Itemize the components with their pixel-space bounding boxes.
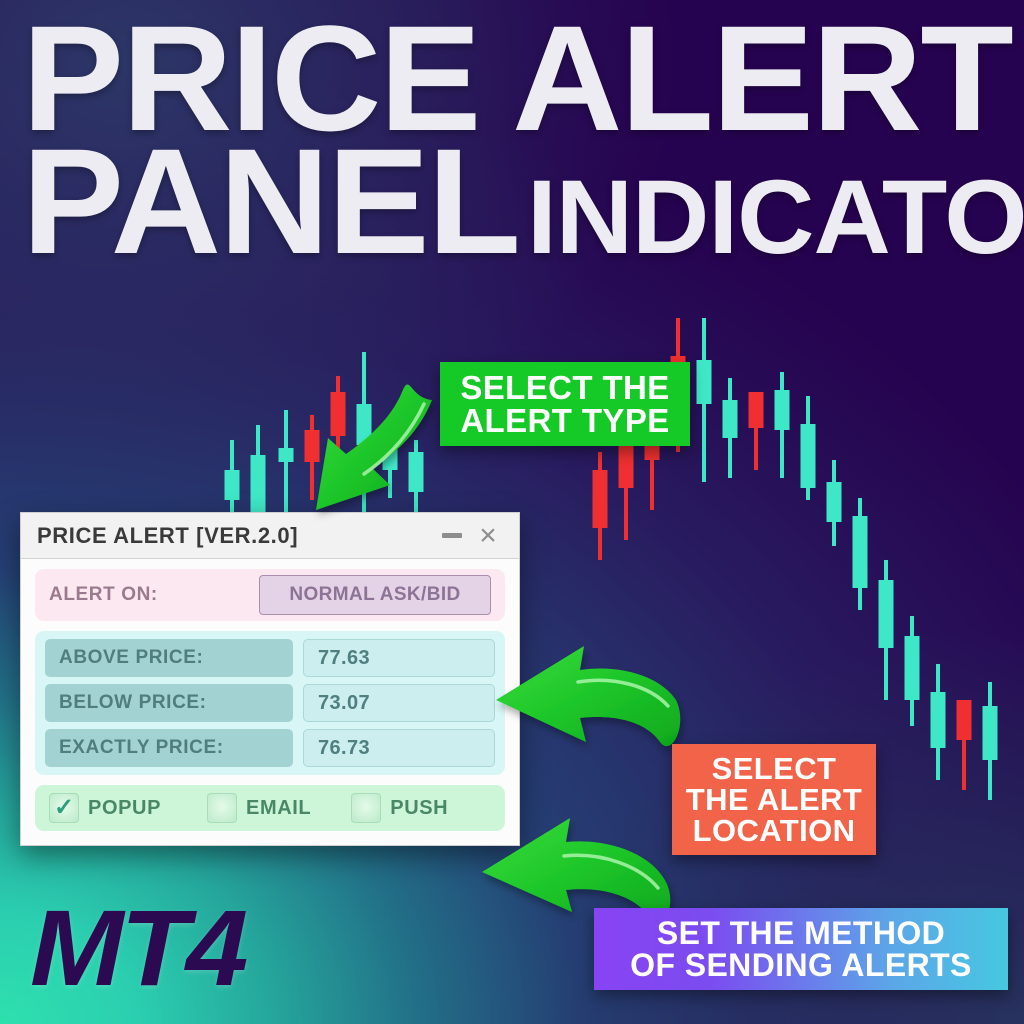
mt4-logo: MT4 xyxy=(30,885,245,1010)
callout-send-method-line1: SET THE METHOD xyxy=(606,917,996,949)
method-push[interactable]: PUSH xyxy=(351,793,448,823)
below-price-input[interactable]: 73.07 xyxy=(303,684,495,722)
callout-alert-location: SELECT THE ALERT LOCATION xyxy=(672,744,876,855)
headline-word-indicator: INDICATOR xyxy=(527,173,1024,263)
minimize-button[interactable] xyxy=(435,519,469,553)
push-checkbox[interactable] xyxy=(351,793,381,823)
panel-titlebar: PRICE ALERT [VER.2.0] × xyxy=(21,513,519,559)
close-button[interactable]: × xyxy=(469,519,507,553)
minimize-icon xyxy=(442,533,462,538)
panel-body: ALERT ON: NORMAL ASK/BID ABOVE PRICE: 77… xyxy=(21,559,519,845)
popup-checkbox[interactable]: ✓ xyxy=(49,793,79,823)
alert-type-dropdown[interactable]: NORMAL ASK/BID xyxy=(259,575,491,615)
email-label: EMAIL xyxy=(246,797,311,820)
below-price-label: BELOW PRICE: xyxy=(45,684,293,722)
callout-alert-type-line1: SELECT THE xyxy=(452,371,678,404)
headline-word-alert: ALERT xyxy=(512,14,1012,143)
above-price-input[interactable]: 77.63 xyxy=(303,639,495,677)
callout-send-method: SET THE METHOD OF SENDING ALERTS xyxy=(594,908,1008,990)
callout-alert-location-line1: SELECT xyxy=(682,753,866,784)
above-price-label: ABOVE PRICE: xyxy=(45,639,293,677)
callout-alert-type-line2: ALERT TYPE xyxy=(452,404,678,437)
alert-on-label: ALERT ON: xyxy=(49,584,259,606)
alert-on-row: ALERT ON: NORMAL ASK/BID xyxy=(35,569,505,621)
callout-alert-location-line3: LOCATION xyxy=(682,815,866,846)
callout-alert-type: SELECT THE ALERT TYPE xyxy=(440,362,690,446)
headline-block: PRICE ALERT PANEL INDICATOR xyxy=(0,0,1024,300)
price-row-exactly: EXACTLY PRICE: 76.73 xyxy=(45,729,495,767)
email-checkbox[interactable] xyxy=(207,793,237,823)
push-label: PUSH xyxy=(390,797,448,820)
exactly-price-label: EXACTLY PRICE: xyxy=(45,729,293,767)
alert-methods-row: ✓ POPUP EMAIL PUSH xyxy=(35,785,505,831)
callout-alert-location-line2: THE ALERT xyxy=(682,784,866,815)
price-row-below: BELOW PRICE: 73.07 xyxy=(45,684,495,722)
popup-label: POPUP xyxy=(88,797,161,820)
price-alert-panel: PRICE ALERT [VER.2.0] × ALERT ON: NORMAL… xyxy=(20,512,520,846)
exactly-price-input[interactable]: 76.73 xyxy=(303,729,495,767)
headline-word-panel: PANEL xyxy=(22,137,519,266)
callout-send-method-line2: OF SENDING ALERTS xyxy=(606,949,996,981)
method-popup[interactable]: ✓ POPUP xyxy=(49,793,161,823)
price-fields-group: ABOVE PRICE: 77.63 BELOW PRICE: 73.07 EX… xyxy=(35,631,505,775)
panel-title: PRICE ALERT [VER.2.0] xyxy=(37,523,435,549)
price-row-above: ABOVE PRICE: 77.63 xyxy=(45,639,495,677)
method-email[interactable]: EMAIL xyxy=(207,793,311,823)
